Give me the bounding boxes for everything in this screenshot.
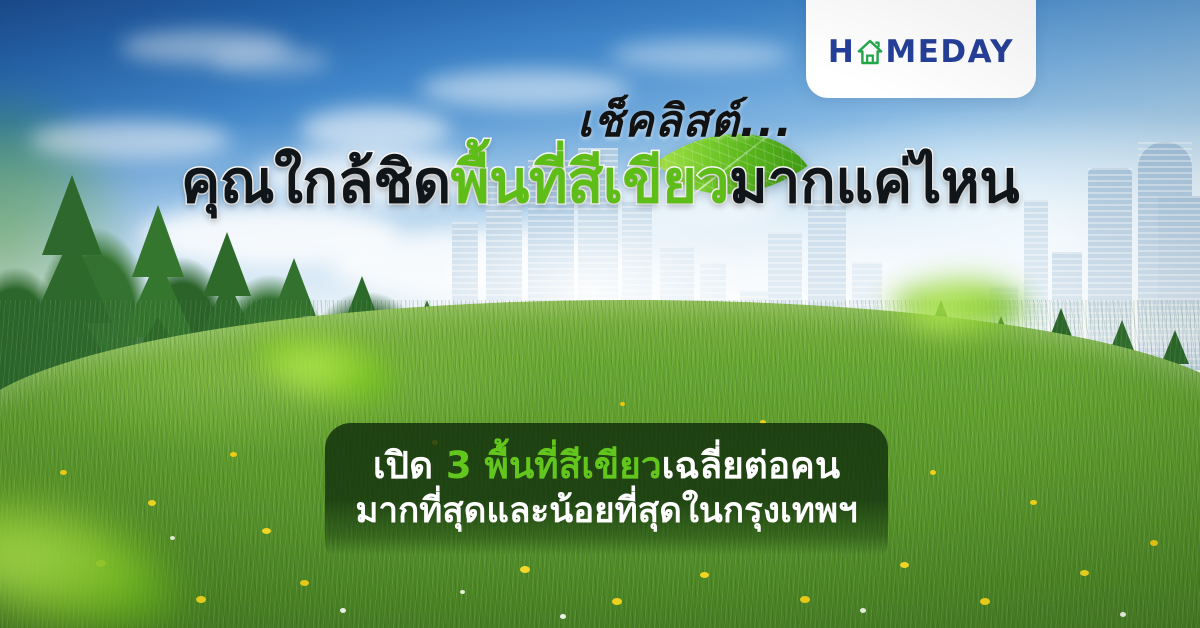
homeday-wordmark: H MEDAY: [828, 34, 1014, 70]
dandelion: [230, 452, 237, 457]
daisy: [560, 614, 566, 619]
daisy: [340, 608, 346, 613]
dandelion: [800, 596, 810, 603]
headline-part-green: พื้นที่สีเขียว: [451, 147, 729, 216]
logo-prefix: H: [828, 34, 855, 70]
dandelion: [300, 580, 309, 586]
daisy: [170, 536, 175, 540]
headline-kicker: เช็คลิสต์...: [0, 100, 1200, 144]
page-title: คุณใกล้ชิดพื้นที่สีเขียวมากแค่ไหน: [0, 152, 1200, 211]
dandelion: [520, 566, 530, 573]
dandelion: [620, 402, 625, 406]
homeday-logo-card[interactable]: H MEDAY: [806, 0, 1036, 98]
daisy: [460, 590, 465, 594]
headline-block: เช็คลิสต์... คุณใกล้ชิดพื้นที่สีเขียวมาก…: [0, 100, 1200, 211]
daisy: [860, 608, 866, 613]
dandelion: [1150, 540, 1158, 546]
promo-banner: H MEDAY เช็คลิสต์... คุณใกล้ชิดพื้นที่สี…: [0, 0, 1200, 628]
caption-line-2: มากที่สุดและน้อยที่สุดในกรุงเทพฯ: [355, 490, 857, 534]
caption-line1-pre: เปิด: [373, 444, 446, 487]
headline-part-1: คุณใกล้ชิด: [181, 147, 451, 216]
dandelion: [900, 562, 909, 568]
dandelion: [612, 598, 622, 605]
caption-panel: เปิด 3 พื้นที่สีเขียวเฉลี่ยต่อคน มากที่ส…: [325, 423, 888, 555]
dandelion: [930, 470, 936, 475]
caption-line1-highlight: 3 พื้นที่สีเขียว: [446, 444, 662, 487]
dandelion: [700, 572, 709, 578]
daisy: [1120, 612, 1126, 617]
house-icon: [856, 38, 884, 66]
logo-suffix: MEDAY: [885, 34, 1014, 70]
caption-line-1: เปิด 3 พื้นที่สีเขียวเฉลี่ยต่อคน: [373, 445, 840, 488]
dandelion: [148, 500, 156, 506]
dandelion: [1030, 500, 1037, 505]
dandelion: [196, 596, 206, 603]
dandelion: [1080, 570, 1089, 576]
dandelion: [262, 528, 271, 534]
dandelion: [980, 598, 990, 605]
headline-part-2: มากแค่ไหน: [729, 147, 1019, 216]
caption-line1-post: เฉลี่ยต่อคน: [662, 444, 841, 487]
dandelion: [60, 470, 67, 475]
